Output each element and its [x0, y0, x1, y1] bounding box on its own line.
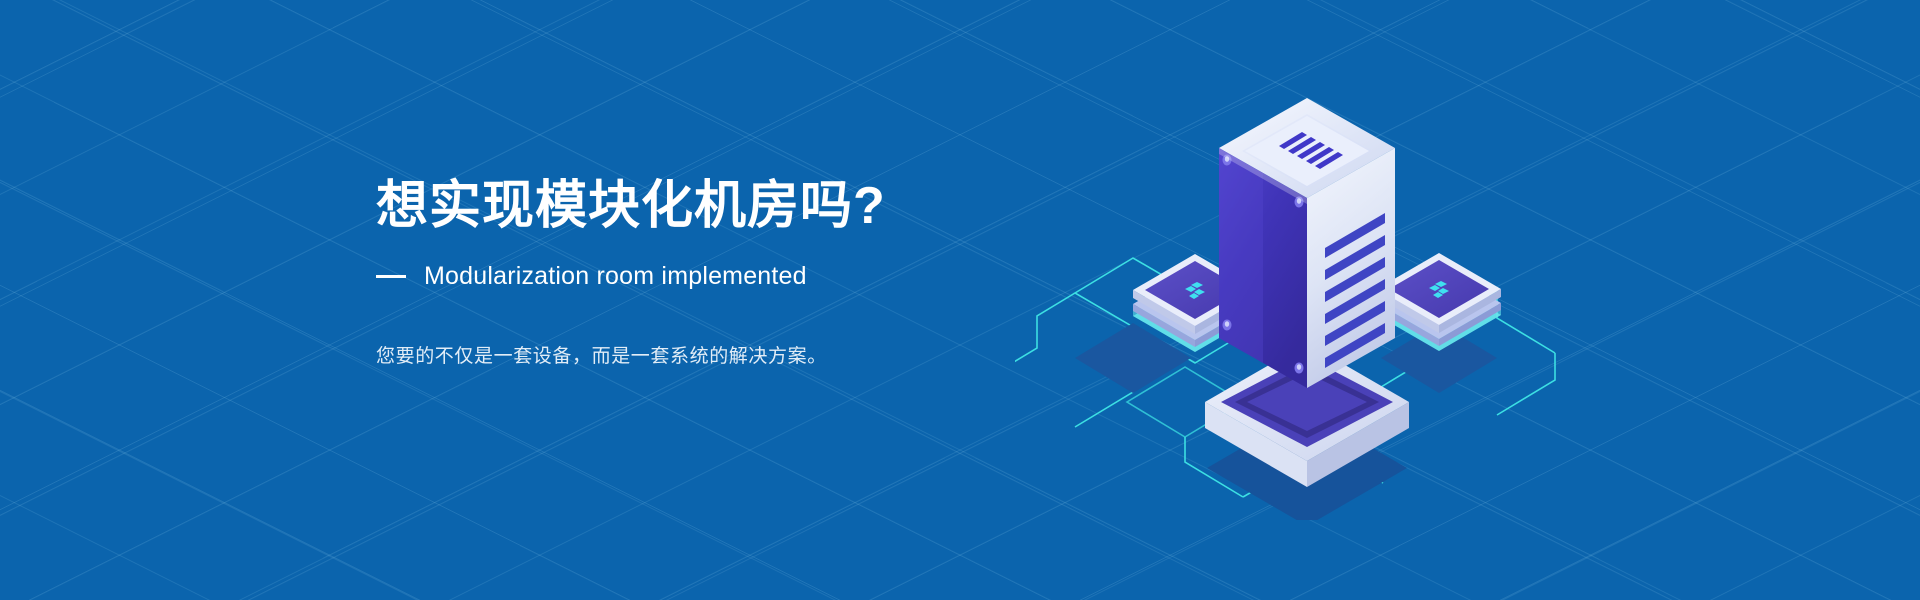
server-tower — [1219, 98, 1395, 388]
hero-banner: 想实现模块化机房吗? Modularization room implement… — [0, 0, 1920, 600]
accent-rule — [376, 275, 406, 278]
subheadline-row: Modularization room implemented — [376, 262, 1076, 291]
chip-right — [1377, 253, 1501, 351]
banner-copy: 想实现模块化机房吗? Modularization room implement… — [376, 176, 1076, 368]
page-title: 想实现模块化机房吗? — [376, 176, 1076, 236]
isometric-server-room-illustration — [1015, 80, 1575, 520]
page-description: 您要的不仅是一套设备，而是一套系统的解决方案。 — [376, 341, 1076, 368]
page-subtitle: Modularization room implemented — [424, 262, 807, 291]
